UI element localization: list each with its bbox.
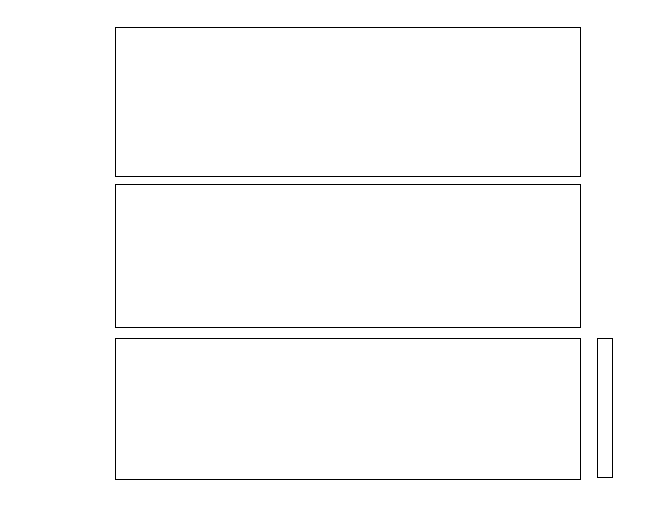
colorbar bbox=[597, 338, 613, 478]
kp-trace bbox=[116, 28, 580, 176]
dst-plot-area bbox=[116, 185, 580, 327]
proton-flux-panel bbox=[115, 338, 581, 480]
dst-panel bbox=[115, 184, 581, 328]
kp-plot-area bbox=[116, 28, 580, 176]
proton-flux-spectrogram bbox=[116, 339, 580, 479]
proton-flux-plot-area bbox=[116, 339, 580, 479]
kp-panel bbox=[115, 27, 581, 177]
dst-trace bbox=[116, 185, 580, 327]
